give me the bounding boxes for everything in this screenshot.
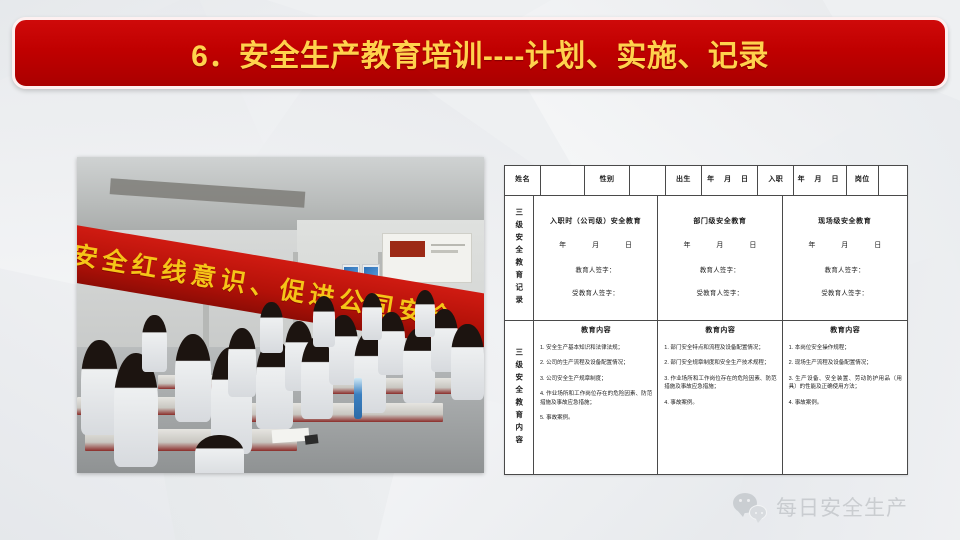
photo-attendee [415,290,435,337]
content-column-site: 教育内容 本岗位安全操作规程； 现场生产流程及设备配置情况； 生产设备、安全装置… [783,321,907,474]
photo-screen-textline [431,250,457,253]
content-column-department: 教育内容 部门安全特点和流程及设备配置情况； 部门安全规章制度和安全生产技术规程… [658,321,782,474]
content-item: 事故案例。 [789,399,902,408]
record-trainee-signature: 受教育人签字： [821,289,868,299]
record-educator-signature: 教育人签字： [825,266,865,276]
content-section-vertical-label: 三级安全教育内容 [505,321,534,474]
photo-attendee [451,324,484,400]
record-column-department: 部门级安全教育 年 月 日 教育人签字： 受教育人签字： [658,196,782,320]
record-trainee-signature: 受教育人签字： [572,289,619,299]
content-item: 安全生产基本知识和法律法规； [540,344,652,353]
wechat-dot [761,512,763,514]
content-item: 公司的生产流程及设备配置情况； [540,359,652,368]
education-content-row: 三级安全教育内容 教育内容 安全生产基本知识和法律法规； 公司的生产流程及设备配… [505,321,907,474]
header-cell-name: 姓名 [505,166,541,195]
record-educator-signature: 教育人签字： [700,266,740,276]
content-title: 教育内容 [664,326,776,337]
photo-attendee [195,435,244,473]
page-title: 6．安全生产教育培训----计划、实施、记录 [191,31,769,75]
content-title: 教育内容 [789,326,902,337]
record-title: 部门级安全教育 [693,217,746,228]
record-title: 现场级安全教育 [818,217,871,228]
header-cell-position-value [879,166,907,195]
photo-attendee [362,293,382,340]
photo-attendee [228,328,256,398]
wechat-dot [747,499,750,502]
content-item: 部门安全特点和流程及设备配置情况； [664,344,776,353]
photo-attendee [142,315,166,372]
header-cell-birth: 出生 [666,166,702,195]
record-date-line: 年 月 日 [671,241,768,252]
content-item: 作业场所和工作岗位存在的危险因素、防范措施及事故应急措施； [664,375,776,392]
content-item: 现场生产流程及设备配置情况； [789,359,902,368]
record-title: 入职时（公司级）安全教育 [550,217,641,228]
content-item-list: 部门安全特点和流程及设备配置情况； 部门安全规章制度和安全生产技术规程； 作业场… [664,344,776,415]
safety-training-classroom-photo: 安全红线意识、促进公司安全 [77,157,484,473]
photo-attendee [260,302,282,353]
content-title: 教育内容 [540,326,652,337]
photo-screen-image [390,241,425,258]
wechat-icon [733,493,767,521]
photo-phone [304,434,318,444]
header-cell-birth-date: 年 月 日 [702,166,758,195]
slide-canvas: 6．安全生产教育培训----计划、实施、记录 安全红线意识、促进公司安全 [0,0,960,540]
content-item: 公司安全生产规章制度； [540,375,652,384]
form-header-row: 姓名 性别 出生 年 月 日 入职 年 月 日 岗位 [505,166,907,196]
content-column-company: 教育内容 安全生产基本知识和法律法规； 公司的生产流程及设备配置情况； 公司安全… [534,321,658,474]
photo-attendee [81,340,118,435]
header-cell-position: 岗位 [847,166,879,195]
content-item: 本岗位安全操作规程； [789,344,902,353]
record-column-company: 入职时（公司级）安全教育 年 月 日 教育人签字： 受教育人签字： [534,196,658,320]
header-cell-name-value [541,166,585,195]
photo-screen-textline [431,244,464,247]
watermark: 每日安全生产 [733,492,908,522]
three-level-safety-education-form: 姓名 性别 出生 年 月 日 入职 年 月 日 岗位 三级安全教育记录 入职时（… [504,165,908,475]
content-item: 作业场所和工作岗位存在的危险因素、防范措施及事故应急措施； [540,390,652,407]
record-trainee-signature: 受教育人签字： [697,289,744,299]
header-cell-gender-value [630,166,666,195]
photo-attendee [313,296,335,347]
wechat-bubble-small [749,505,767,520]
header-cell-entry-date: 年 月 日 [794,166,846,195]
content-item: 事故案例。 [540,414,652,423]
record-date-line: 年 月 日 [796,241,893,252]
record-section-vertical-label: 三级安全教育记录 [505,196,534,320]
record-educator-signature: 教育人签字： [576,266,616,276]
photo-water-bottle [354,378,363,419]
photo-projection-screen [382,233,472,284]
education-record-row: 三级安全教育记录 入职时（公司级）安全教育 年 月 日 教育人签字： 受教育人签… [505,196,907,321]
content-item-list: 本岗位安全操作规程； 现场生产流程及设备配置情况； 生产设备、安全装置、劳动防护… [789,344,902,415]
content-item: 部门安全规章制度和安全生产技术规程； [664,359,776,368]
wechat-dot [739,499,742,502]
record-column-site: 现场级安全教育 年 月 日 教育人签字： 受教育人签字： [783,196,907,320]
record-date-line: 年 月 日 [547,241,644,252]
content-item: 事故案例。 [664,399,776,408]
photo-attendee [175,334,212,422]
photo-attendee [378,312,404,375]
watermark-text: 每日安全生产 [776,492,908,522]
header-cell-gender: 性别 [585,166,629,195]
title-banner: 6．安全生产教育培训----计划、实施、记录 [12,17,948,89]
content-item-list: 安全生产基本知识和法律法规； 公司的生产流程及设备配置情况； 公司安全生产规章制… [540,344,652,430]
header-cell-entry: 入职 [758,166,794,195]
wechat-dot [755,512,757,514]
content-item: 生产设备、安全装置、劳动防护用品（用具）的性能及正确使用方法； [789,375,902,392]
